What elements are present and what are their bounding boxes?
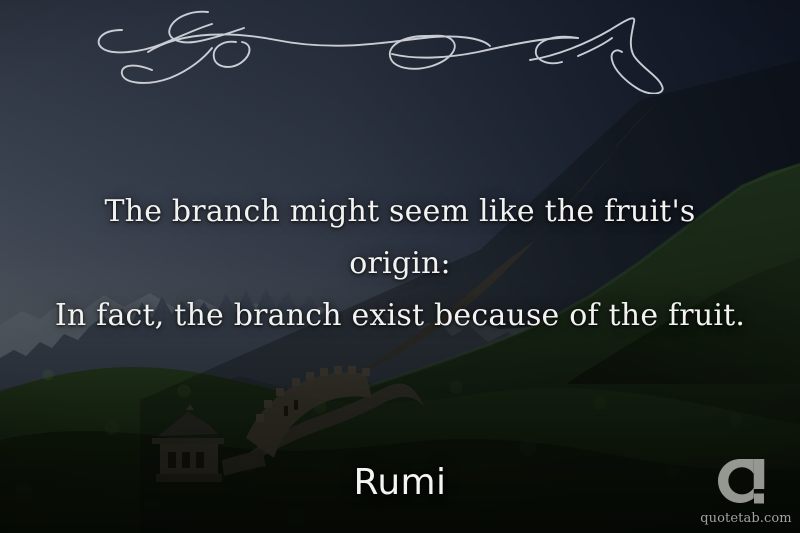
calligraphic-flourish-icon: [86, 8, 716, 94]
quote-line-3: In fact, the branch exist because of the…: [40, 290, 760, 342]
quotetab-q-logo-icon[interactable]: [718, 459, 774, 509]
watermark-url-label[interactable]: quotetab.com: [700, 511, 792, 527]
quote-image-card: The branch might seem like the fruit's o…: [0, 0, 800, 533]
author-name: Rumi: [0, 461, 800, 505]
quote-line-1: The branch might seem like the fruit's: [40, 186, 760, 238]
card-content: The branch might seem like the fruit's o…: [0, 0, 800, 533]
quote-line-2: origin:: [40, 238, 760, 290]
watermark[interactable]: quotetab.com: [700, 459, 792, 527]
quote-text-block: The branch might seem like the fruit's o…: [40, 186, 760, 342]
